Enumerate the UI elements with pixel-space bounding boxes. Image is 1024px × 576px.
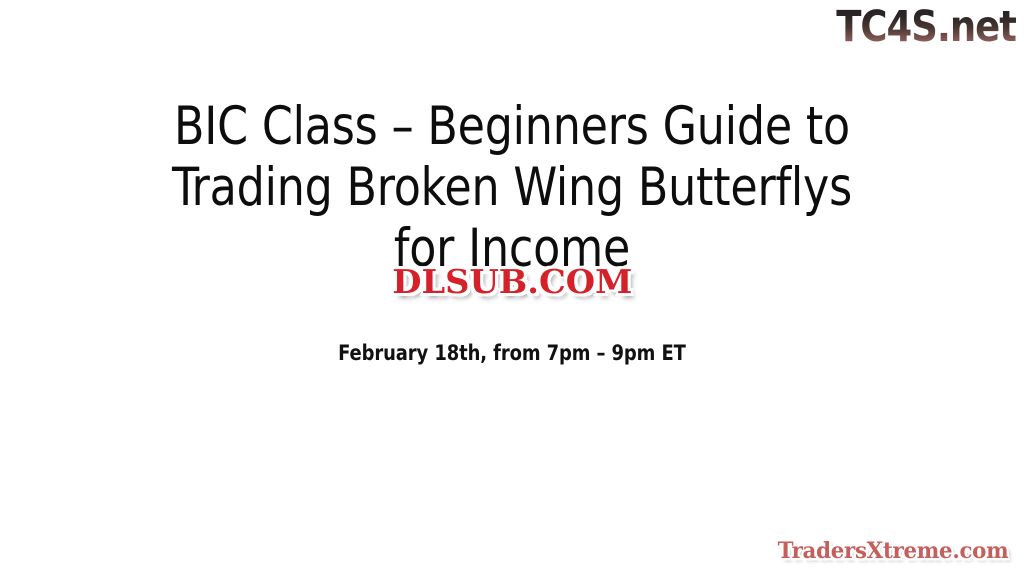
title-line-2: Trading Broken Wing Butterflys — [36, 157, 988, 218]
slide-title: BIC Class – Beginners Guide to Trading B… — [0, 96, 1024, 279]
tradersxtreme-brand-text: TradersXtreme.com — [778, 538, 1009, 564]
tc4s-brand-logo: TC4S.net — [836, 4, 1016, 50]
subtitle-text: February 18th, from 7pm – 9pm ET — [338, 340, 686, 366]
dlsub-watermark-text: DLSUB.COM — [392, 264, 632, 300]
title-line-1: BIC Class – Beginners Guide to — [36, 96, 988, 157]
presentation-slide: TC4S.net BIC Class – Beginners Guide to … — [0, 0, 1024, 576]
tradersxtreme-brand-logo: TradersXtreme.com — [774, 538, 1012, 564]
dlsub-watermark: DLSUB.COM — [394, 264, 629, 300]
slide-subtitle: February 18th, from 7pm – 9pm ET — [0, 340, 1024, 366]
